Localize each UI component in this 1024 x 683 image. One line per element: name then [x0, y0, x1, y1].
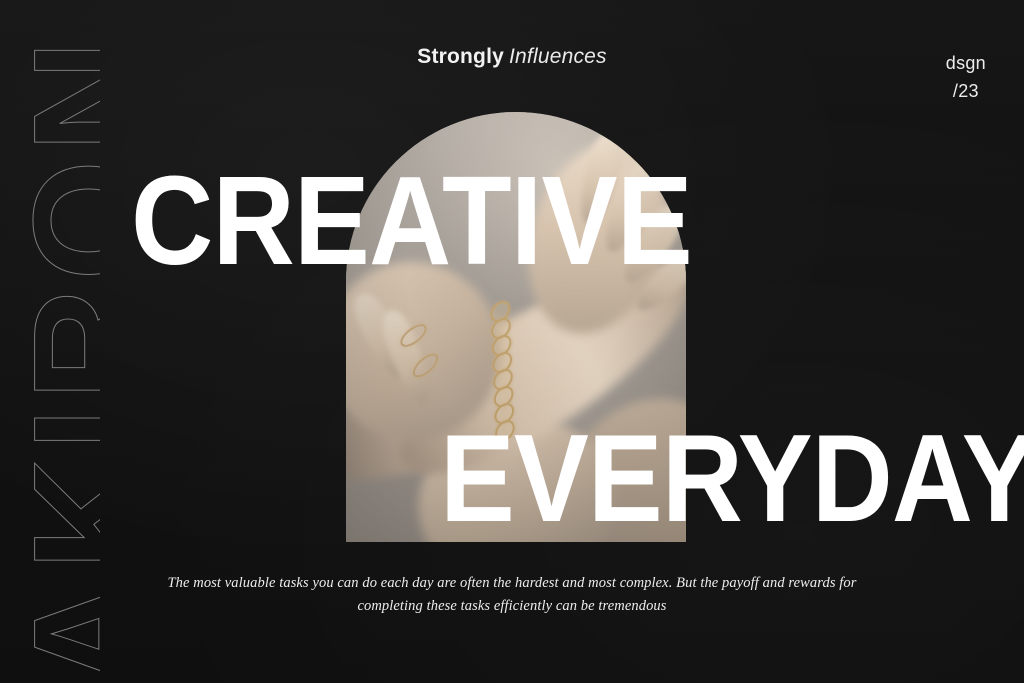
caption-text: The most valuable tasks you can do each … [160, 572, 864, 618]
brand-wordmark-text: MAKIRON [10, 33, 100, 683]
eyebrow-strong: Strongly [417, 45, 504, 68]
meta-label: dsgn [946, 50, 986, 78]
vertical-brand-wordmark: MAKIRON [0, 0, 100, 683]
poster-canvas: MAKIRON [0, 0, 1024, 683]
brand-rotation-wrapper: MAKIRON [0, 50, 100, 683]
eyebrow-text: StronglyInfluences [0, 45, 1024, 69]
meta-number: /23 [946, 78, 986, 106]
eyebrow-italic: Influences [509, 45, 607, 68]
meta-block: dsgn /23 [946, 50, 986, 106]
headline-line-2: EVERYDAY [440, 417, 1024, 541]
headline-line-1: CREATIVE [131, 158, 692, 284]
